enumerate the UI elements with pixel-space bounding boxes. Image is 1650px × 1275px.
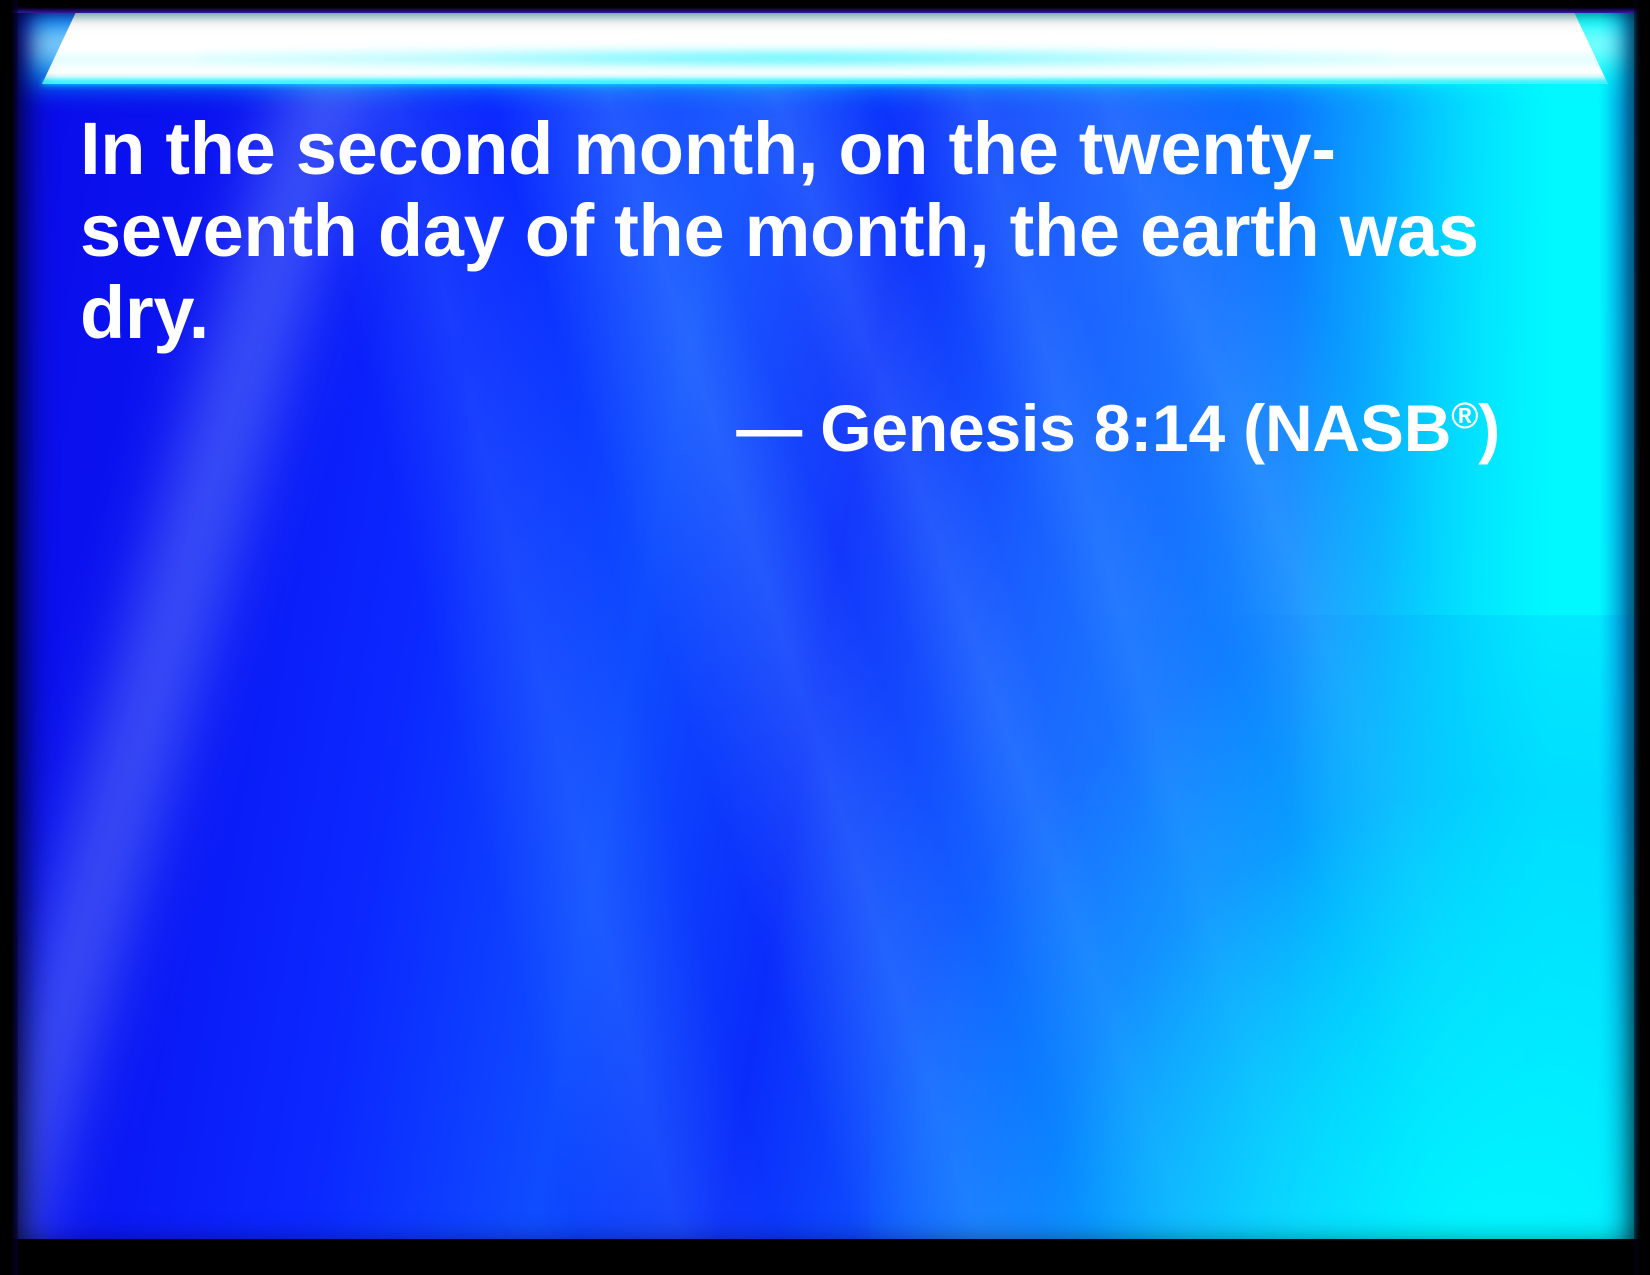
attribution-reference: Genesis 8:14 (NASB [820, 391, 1451, 465]
slide-content: In the second month, on the twenty-seven… [80, 108, 1500, 464]
attribution-em-dash: — [736, 391, 802, 465]
top-glow-bar [42, 12, 1608, 84]
top-glow-bar-underline [42, 80, 1608, 88]
verse-body-text: In the second month, on the twenty-seven… [80, 108, 1500, 354]
registered-trademark-icon: ® [1451, 395, 1478, 436]
frame-border-bottom [0, 1239, 1650, 1275]
frame-border-top [0, 0, 1650, 13]
frame-border-left [0, 0, 18, 1275]
top-glow-bar-cyan-core [199, 48, 1389, 68]
verse-slide: In the second month, on the twenty-seven… [0, 0, 1650, 1275]
background-cyan-corner-glow [870, 615, 1650, 1275]
verse-attribution: — Genesis 8:14 (NASB®) [80, 394, 1500, 463]
frame-border-right [1634, 0, 1650, 1275]
attribution-closing-paren: ) [1478, 391, 1500, 465]
